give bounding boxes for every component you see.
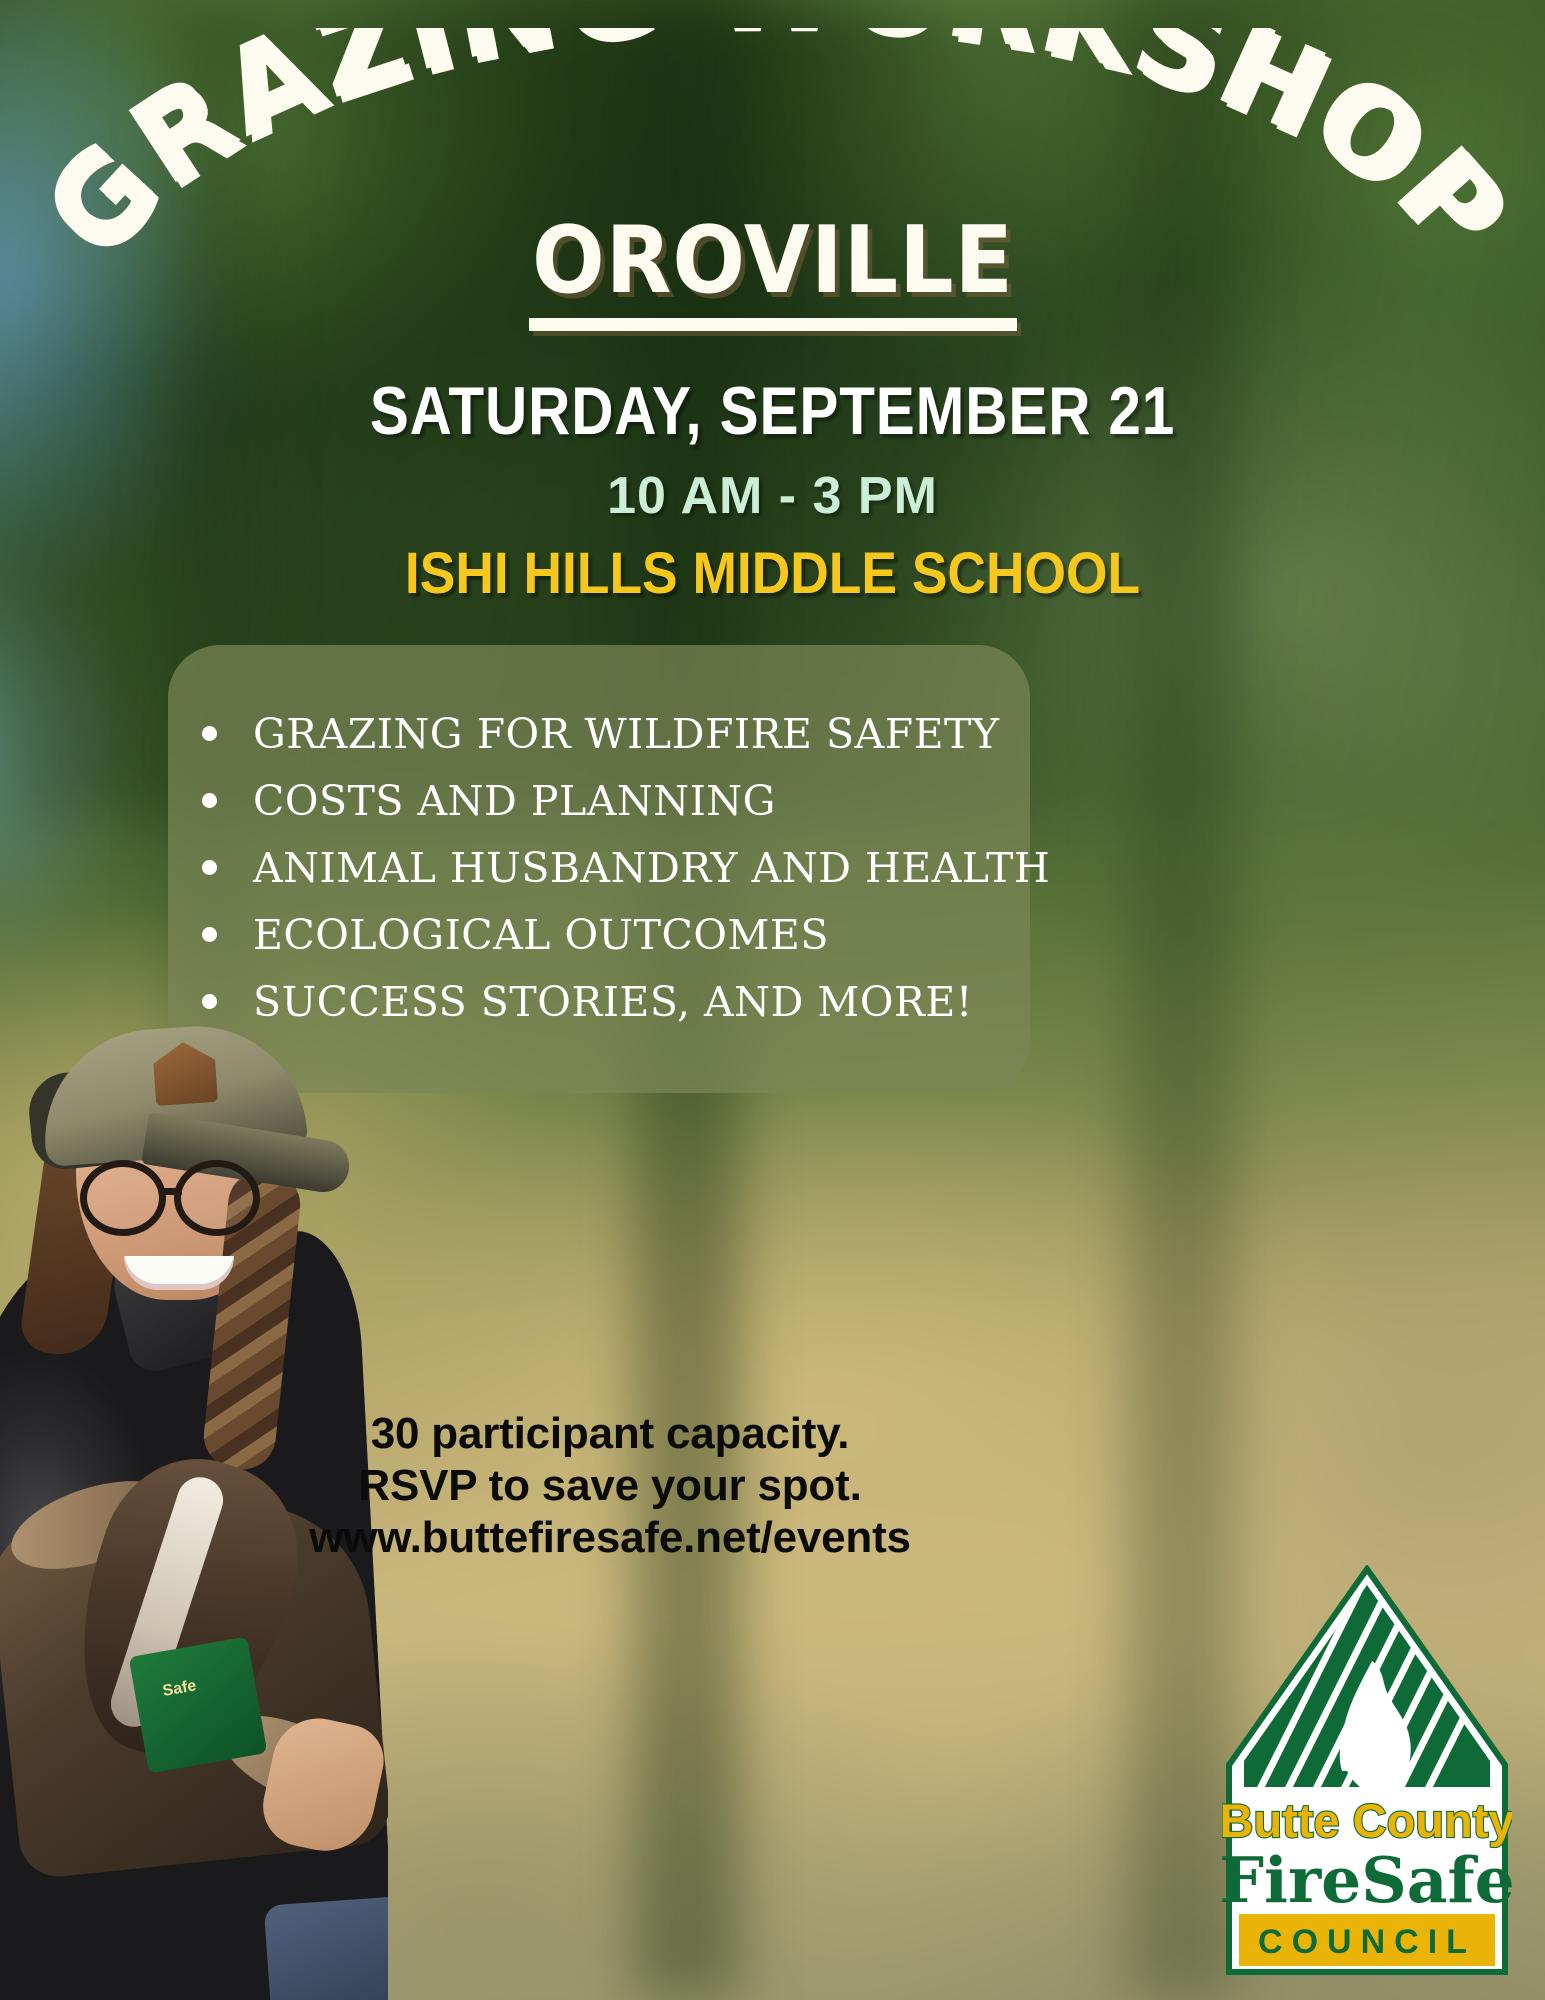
topic-label: GRAZING FOR WILDFIRE SAFETY — [253, 710, 999, 758]
topic-label: COSTS AND PLANNING — [253, 777, 776, 825]
topic-label: ANIMAL HUSBANDRY AND HEALTH — [253, 844, 1050, 892]
eyeglasses-left-lens — [80, 1160, 166, 1236]
event-venue: ISHI HILLS MIDDLE SCHOOL — [62, 540, 1483, 607]
bullet-icon — [202, 994, 217, 1009]
poster-canvas: GRAZING WORKSHOP GRAZING WORKSHOP OROVIL… — [0, 0, 1545, 2000]
list-item: ECOLOGICAL OUTCOMES — [188, 901, 1088, 968]
topic-label: ECOLOGICAL OUTCOMES — [253, 911, 829, 959]
smile — [124, 1256, 234, 1290]
list-item: ANIMAL HUSBANDRY AND HEALTH — [188, 834, 1088, 901]
topic-label: SUCCESS STORIES, AND MORE! — [253, 978, 973, 1026]
eyeglasses-right-lens — [174, 1160, 260, 1236]
logo-line-council: COUNCIL — [1258, 1923, 1476, 1961]
eyeglasses-bridge — [164, 1188, 182, 1195]
list-item: COSTS AND PLANNING — [188, 767, 1088, 834]
bullet-icon — [202, 927, 217, 942]
topics-list: GRAZING FOR WILDFIRE SAFETY COSTS AND PL… — [188, 700, 1088, 1035]
bullet-icon — [202, 726, 217, 741]
list-item: GRAZING FOR WILDFIRE SAFETY — [188, 700, 1088, 767]
event-time: 10 AM - 3 PM — [0, 466, 1545, 526]
firesafe-council-logo: Butte County FireSafe COUNCIL — [1222, 1565, 1512, 1980]
logo-line-butte-county: Butte County — [1222, 1794, 1512, 1847]
event-date: SATURDAY, SEPTEMBER 21 — [108, 372, 1437, 450]
jeans — [264, 1895, 388, 2000]
rsvp-block: 30 participant capacity. RSVP to save yo… — [200, 1408, 1020, 1564]
city-underline — [529, 318, 1017, 331]
city-heading: OROVILLE — [532, 214, 1014, 307]
logo-roof-icon — [1222, 1565, 1512, 1805]
city-heading-wrap: OROVILLE — [0, 214, 1545, 307]
rsvp-instruction: RSVP to save your spot. — [200, 1460, 1020, 1512]
logo-svg: Butte County FireSafe COUNCIL — [1222, 1565, 1512, 1980]
bullet-icon — [202, 793, 217, 808]
logo-line-firesafe: FireSafe — [1222, 1843, 1512, 1917]
rsvp-url[interactable]: www.buttefiresafe.net/events — [200, 1512, 1020, 1564]
capacity-text: 30 participant capacity. — [200, 1408, 1020, 1460]
bullet-icon — [202, 860, 217, 875]
